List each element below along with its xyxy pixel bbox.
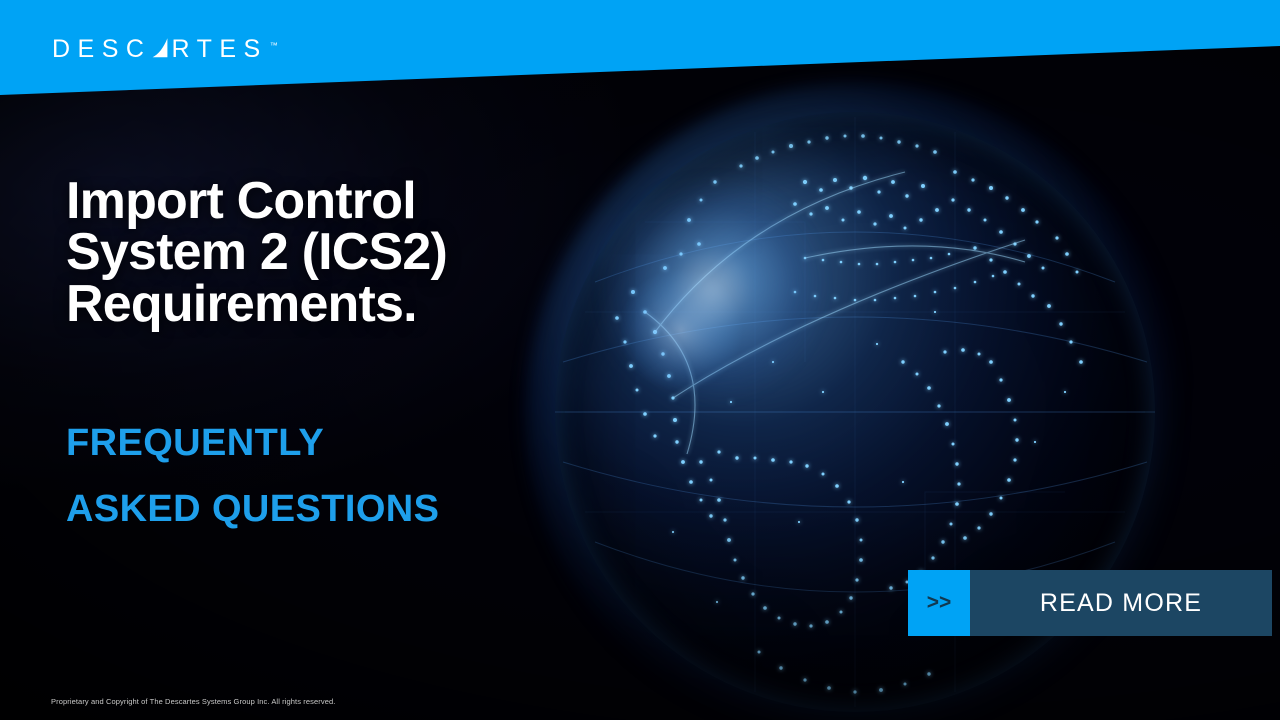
logo-text-after: RTES [171,37,267,62]
subtitle-line-2: ASKED QUESTIONS [66,490,586,528]
slide-canvas: DESC RTES ™ Import Control System 2 (ICS… [0,0,1280,720]
logo-sail-icon [151,37,171,62]
subtitle: FREQUENTLY ASKED QUESTIONS [66,424,586,528]
headline-line-2: System 2 (ICS2) [66,227,536,278]
descartes-logo: DESC RTES ™ [52,32,278,62]
subtitle-line-1: FREQUENTLY [66,424,586,462]
read-more-button[interactable]: >> READ MORE [908,570,1272,636]
logo-text-before: DESC [52,37,151,62]
headline-line-1: Import Control [66,176,536,227]
trademark-symbol: ™ [270,42,278,50]
double-chevron-right-icon[interactable]: >> [908,570,970,636]
read-more-label[interactable]: READ MORE [970,570,1272,636]
copyright-notice: Proprietary and Copyright of The Descart… [51,697,335,706]
headline-line-3: Requirements. [66,279,536,330]
page-title: Import Control System 2 (ICS2) Requireme… [66,176,536,330]
